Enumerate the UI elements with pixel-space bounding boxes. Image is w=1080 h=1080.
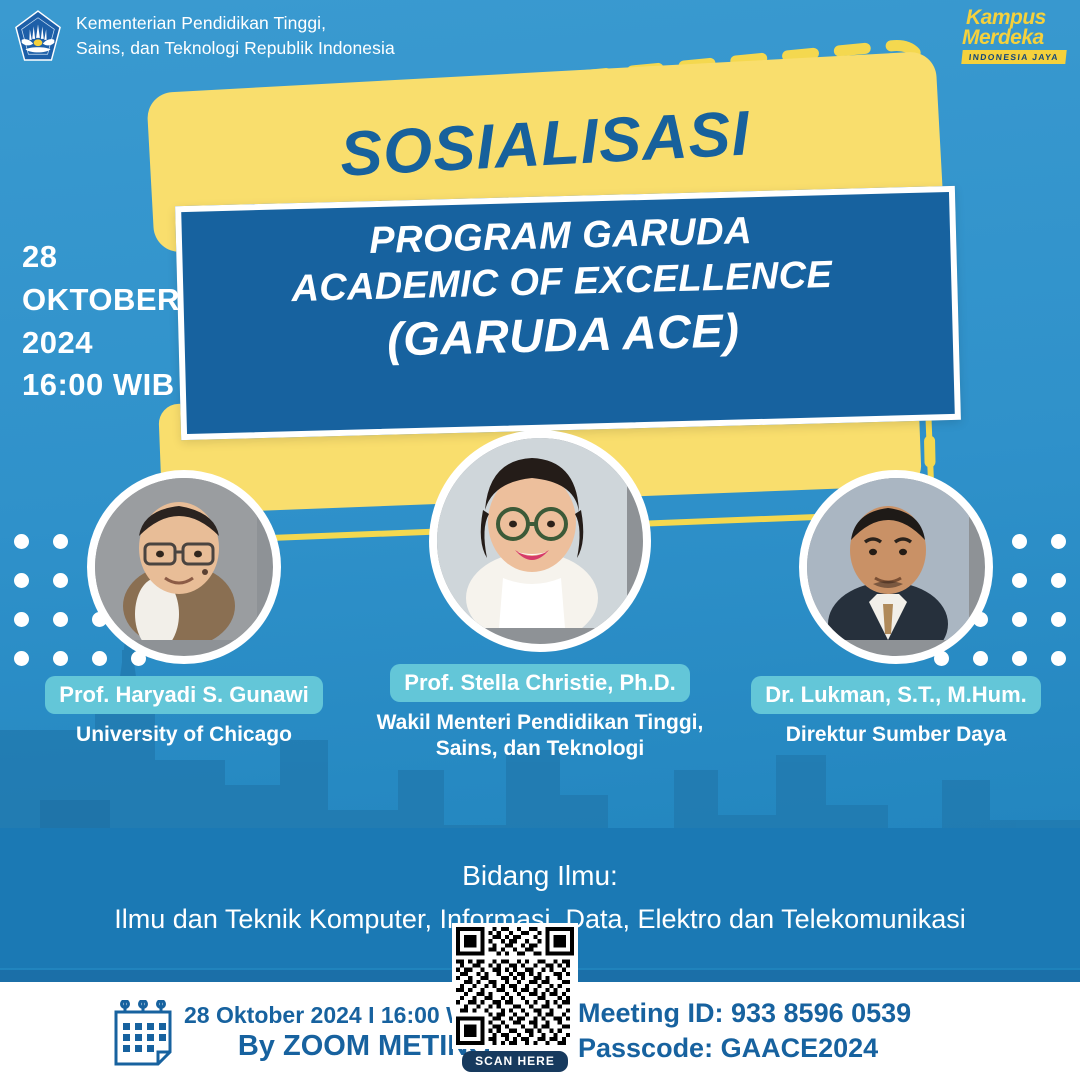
event-year: 2024 <box>22 322 180 365</box>
footer-platform: By ZOOM METING <box>184 1029 491 1064</box>
scan-here-label[interactable]: SCAN HERE <box>462 1051 568 1072</box>
program-title-text: PROGRAM GARUDA ACADEMIC OF EXCELLENCE (G… <box>176 204 948 374</box>
kampus-merdeka-line-1: Kampus <box>962 8 1066 28</box>
qr-section[interactable]: SCAN HERE <box>452 923 578 1072</box>
kampus-merdeka-logo: Kampus Merdeka INDONESIA JAYA <box>962 8 1066 64</box>
speaker-role-line-1: Wakil Menteri Pendidikan Tinggi, <box>350 710 730 736</box>
footer-meeting-info: Meeting ID: 933 8596 0539 Passcode: GAAC… <box>578 996 911 1066</box>
footer-schedule: 28 Oktober 2024 I 16:00 WIB By ZOOM METI… <box>184 1002 491 1064</box>
ministry-name: Kementerian Pendidikan Tinggi, Sains, da… <box>76 11 395 61</box>
kampus-merdeka-band: INDONESIA JAYA <box>961 50 1066 64</box>
event-time: 16:00 WIB <box>22 364 180 407</box>
calendar-icon <box>112 1000 174 1066</box>
speaker-name-badge: Prof. Stella Christie, Ph.D. <box>390 664 689 702</box>
footer-meeting-id: Meeting ID: 933 8596 0539 <box>578 996 911 1031</box>
kampus-merdeka-line-2: Merdeka <box>962 28 1066 48</box>
speaker-role: Direktur Sumber Daya <box>726 722 1066 748</box>
ministry-line-1: Kementerian Pendidikan Tinggi, <box>76 11 395 36</box>
poster-header: Kementerian Pendidikan Tinggi, Sains, da… <box>0 0 1080 80</box>
ministry-line-2: Sains, dan Teknologi Republik Indonesia <box>76 36 395 61</box>
speaker-name-badge: Prof. Haryadi S. Gunawi <box>45 676 322 714</box>
speaker-role: Wakil Menteri Pendidikan Tinggi, Sains, … <box>350 710 730 762</box>
qr-code-icon[interactable] <box>452 923 578 1049</box>
speaker-role: University of Chicago <box>14 722 354 748</box>
event-month: OKTOBER <box>22 279 180 322</box>
footer-datetime: 28 Oktober 2024 I 16:00 WIB <box>184 1002 491 1030</box>
footer-passcode: Passcode: GAACE2024 <box>578 1031 911 1066</box>
speaker-photo-haryadi <box>87 470 281 664</box>
speaker-name-badge: Dr. Lukman, S.T., M.Hum. <box>751 676 1041 714</box>
bidang-ilmu-label: Bidang Ilmu: <box>0 856 1080 896</box>
speaker-card-stella: Prof. Stella Christie, Ph.D. Wakil Mente… <box>350 430 730 762</box>
poster-canvas: Kementerian Pendidikan Tinggi, Sains, da… <box>0 0 1080 1080</box>
tut-wuri-handayani-logo <box>14 10 62 62</box>
speaker-photo-lukman <box>799 470 993 664</box>
event-day: 28 <box>22 236 180 279</box>
speaker-card-lukman: Dr. Lukman, S.T., M.Hum. Direktur Sumber… <box>726 470 1066 748</box>
speaker-role-line-2: Sains, dan Teknologi <box>350 736 730 762</box>
speaker-card-haryadi: Prof. Haryadi S. Gunawi University of Ch… <box>14 470 354 748</box>
speaker-photo-stella <box>429 430 651 652</box>
ministry-branding: Kementerian Pendidikan Tinggi, Sains, da… <box>14 10 395 62</box>
event-date-block: 28 OKTOBER 2024 16:00 WIB <box>22 236 180 407</box>
